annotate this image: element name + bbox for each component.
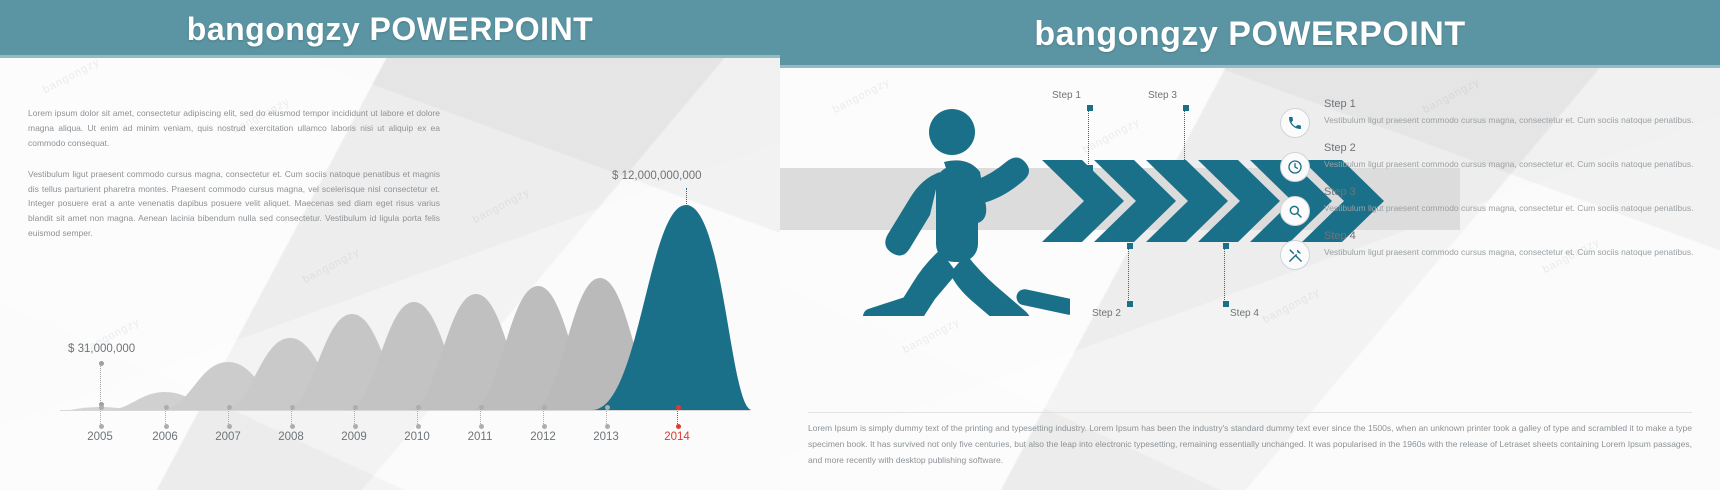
step-title: Step 2	[1324, 140, 1710, 157]
step-title: Step 3	[1324, 184, 1710, 201]
step-text-3: Step 3 Vestibulum ligut praesent commodo…	[1324, 184, 1710, 216]
footer-divider	[808, 412, 1692, 413]
step-text-2: Step 2 Vestibulum ligut praesent commodo…	[1324, 140, 1710, 172]
axis-label: 2014	[647, 431, 707, 443]
slide-left[interactable]: bangongzy bangongzy bangongzy bangongzy …	[0, 0, 780, 490]
runner-icon	[840, 106, 1070, 321]
slide-left-body: Lorem ipsum dolor sit amet, consectetur …	[0, 58, 780, 490]
step-desc: Vestibulum ligut praesent commodo cursus…	[1324, 157, 1710, 172]
phone-icon	[1280, 108, 1310, 138]
callout-step-4: Step 4	[1230, 308, 1259, 319]
axis-label: 2005	[70, 431, 130, 443]
axis-tick-2010: 2010	[387, 408, 447, 443]
footer-paragraph: Lorem Ipsum is simply dummy text of the …	[808, 420, 1692, 468]
tick-stem	[354, 408, 355, 426]
slide-left-title: bangongzy POWERPOINT	[187, 11, 593, 48]
tick-stem	[606, 408, 607, 426]
axis-tick-2012: 2012	[513, 408, 573, 443]
axis-tick-2011: 2011	[450, 408, 510, 443]
search-icon	[1280, 196, 1310, 226]
axis-tick-2009: 2009	[324, 408, 384, 443]
tick-stem	[417, 408, 418, 426]
footer-text-block: Lorem Ipsum is simply dummy text of the …	[808, 420, 1692, 468]
leader-line-high	[686, 188, 687, 208]
axis-tick-2007: 2007	[198, 408, 258, 443]
chart-x-axis: 2005 2006 2007 2008 2009	[0, 408, 780, 468]
step-item-1[interactable]: Step 1 Vestibulum ligut praesent commodo…	[1280, 96, 1710, 138]
axis-tick-2008: 2008	[261, 408, 321, 443]
callout-step-3: Step 3	[1148, 90, 1177, 101]
axis-label: 2013	[576, 431, 636, 443]
step-item-2[interactable]: Step 2 Vestibulum ligut praesent commodo…	[1280, 140, 1710, 182]
axis-tick-2013: 2013	[576, 408, 636, 443]
axis-tick-2014: 2014	[647, 408, 707, 443]
connector-step-1	[1088, 108, 1089, 168]
slide-left-header: bangongzy POWERPOINT	[0, 0, 780, 58]
tick-stem	[228, 408, 229, 426]
step-item-4[interactable]: Step 4 Vestibulum ligut praesent commodo…	[1280, 228, 1710, 270]
axis-label: 2007	[198, 431, 258, 443]
tick-stem	[543, 408, 544, 426]
axis-label: 2012	[513, 431, 573, 443]
step-item-3[interactable]: Step 3 Vestibulum ligut praesent commodo…	[1280, 184, 1710, 226]
step-desc: Vestibulum ligut praesent commodo cursus…	[1324, 245, 1710, 260]
step-desc: Vestibulum ligut praesent commodo cursus…	[1324, 113, 1710, 128]
step-text-1: Step 1 Vestibulum ligut praesent commodo…	[1324, 96, 1710, 128]
tick-stem	[165, 408, 166, 426]
step-desc: Vestibulum ligut praesent commodo cursus…	[1324, 201, 1710, 216]
callout-step-2: Step 2	[1092, 308, 1121, 319]
value-label-high: $ 12,000,000,000	[612, 170, 702, 182]
value-label-low: $ 31,000,000	[68, 343, 135, 355]
step-text-4: Step 4 Vestibulum ligut praesent commodo…	[1324, 228, 1710, 260]
axis-label: 2009	[324, 431, 384, 443]
tick-stem	[677, 408, 678, 426]
leader-line-low	[100, 363, 101, 405]
slide-pair-canvas: bangongzy bangongzy bangongzy bangongzy …	[0, 0, 1720, 490]
connector-step-3	[1184, 108, 1185, 168]
axis-label: 2006	[135, 431, 195, 443]
tick-stem	[480, 408, 481, 426]
slide-right-header: bangongzy POWERPOINT	[780, 0, 1720, 68]
axis-label: 2011	[450, 431, 510, 443]
step-title: Step 4	[1324, 228, 1710, 245]
connector-step-4	[1224, 246, 1225, 304]
slide-right-title: bangongzy POWERPOINT	[1034, 15, 1465, 54]
slide-right[interactable]: bangongzy bangongzy bangongzy bangongzy …	[780, 0, 1720, 490]
step-title: Step 1	[1324, 96, 1710, 113]
axis-tick-2005: 2005	[70, 408, 130, 443]
connector-step-2	[1128, 246, 1129, 304]
tick-stem	[291, 408, 292, 426]
tools-icon	[1280, 240, 1310, 270]
axis-tick-2006: 2006	[135, 408, 195, 443]
axis-label: 2008	[261, 431, 321, 443]
slide-right-body: Step 1 Step 3 Step 2 Step 4 Step 1	[780, 68, 1720, 490]
callout-step-1: Step 1	[1052, 90, 1081, 101]
clock-icon	[1280, 152, 1310, 182]
axis-label: 2010	[387, 431, 447, 443]
steps-list: Step 1 Vestibulum ligut praesent commodo…	[1280, 96, 1710, 272]
tick-stem	[100, 408, 101, 426]
